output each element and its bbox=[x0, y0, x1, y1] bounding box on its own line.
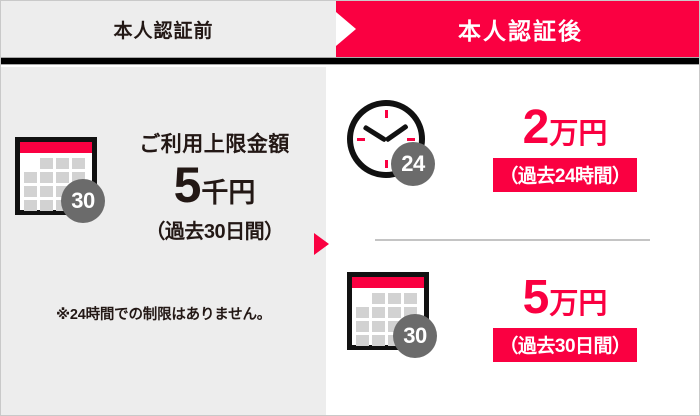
before-auth-amount-unit: 千円 bbox=[201, 180, 255, 207]
body: 30 ご利用上限金額 5 千円 （過去30日間） ※24時間での制限はありません… bbox=[1, 67, 700, 415]
calendar-icon: 30 bbox=[343, 266, 447, 370]
calendar-header-band bbox=[20, 142, 92, 153]
before-auth-limit-row: 30 ご利用上限金額 5 千円 （過去30日間） bbox=[11, 121, 316, 251]
before-auth-amount-number: 5 bbox=[174, 160, 201, 210]
calendar-day-badge: 30 bbox=[393, 314, 437, 358]
after-auth-amount-unit-30d: 万円 bbox=[549, 290, 607, 319]
triangle-right-icon bbox=[314, 233, 329, 255]
triangle-right-icon bbox=[336, 12, 356, 46]
after-auth-amount-24h: 2 万円 bbox=[523, 104, 608, 152]
after-auth-amount-number-30d: 5 bbox=[523, 274, 549, 322]
usage-cap-label: ご利用上限金額 bbox=[139, 128, 290, 158]
clock-tick-12 bbox=[385, 110, 388, 118]
after-auth-period-badge-30d: （過去30日間） bbox=[493, 328, 636, 362]
calendar-day-badge: 30 bbox=[61, 179, 105, 223]
calendar-header-band bbox=[352, 277, 424, 288]
clock-icon: 24 bbox=[343, 96, 447, 200]
clock-tick-9 bbox=[357, 138, 365, 141]
header-after-auth: 本人認証後 bbox=[326, 1, 700, 57]
header-before-auth: 本人認証前 bbox=[1, 1, 326, 57]
clock-hand-minute bbox=[385, 124, 409, 143]
comparison-diagram: 本人認証前 本人認証後 bbox=[0, 0, 700, 416]
after-auth-text-group-24h: 2 万円 （過去24時間） bbox=[447, 104, 683, 192]
before-auth-period: （過去30日間） bbox=[145, 215, 283, 244]
header-after-auth-label: 本人認証後 bbox=[458, 12, 583, 46]
clock-hand-hour bbox=[363, 125, 388, 143]
clock-tick-3 bbox=[407, 138, 415, 141]
after-auth-period-badge-24h: （過去24時間） bbox=[493, 158, 636, 192]
after-auth-text-group-30d: 5 万円 （過去30日間） bbox=[447, 274, 683, 362]
before-auth-footnote: ※24時間での制限はありません。 bbox=[1, 303, 326, 324]
clock-hour-badge: 24 bbox=[391, 142, 435, 186]
header-notch bbox=[326, 1, 336, 57]
before-auth-amount: 5 千円 bbox=[174, 160, 256, 210]
after-auth-limit-row-24h: 24 2 万円 （過去24時間） bbox=[343, 89, 683, 207]
after-auth-amount-30d: 5 万円 bbox=[523, 274, 608, 322]
after-auth-amount-unit-24h: 万円 bbox=[549, 120, 607, 149]
after-auth-panel: 24 2 万円 （過去24時間） bbox=[327, 67, 700, 415]
after-auth-limit-row-30d: 30 5 万円 （過去30日間） bbox=[343, 259, 683, 377]
clock-tick-6 bbox=[385, 160, 388, 168]
after-auth-row-divider bbox=[375, 239, 650, 241]
calendar-icon: 30 bbox=[11, 131, 119, 241]
after-auth-amount-number-24h: 2 bbox=[523, 104, 549, 152]
before-auth-text-group: ご利用上限金額 5 千円 （過去30日間） bbox=[119, 128, 316, 244]
header-divider bbox=[1, 57, 700, 65]
header: 本人認証前 本人認証後 bbox=[1, 1, 700, 57]
header-before-auth-label: 本人認証前 bbox=[113, 16, 213, 43]
before-auth-panel: 30 ご利用上限金額 5 千円 （過去30日間） ※24時間での制限はありません… bbox=[1, 67, 326, 415]
